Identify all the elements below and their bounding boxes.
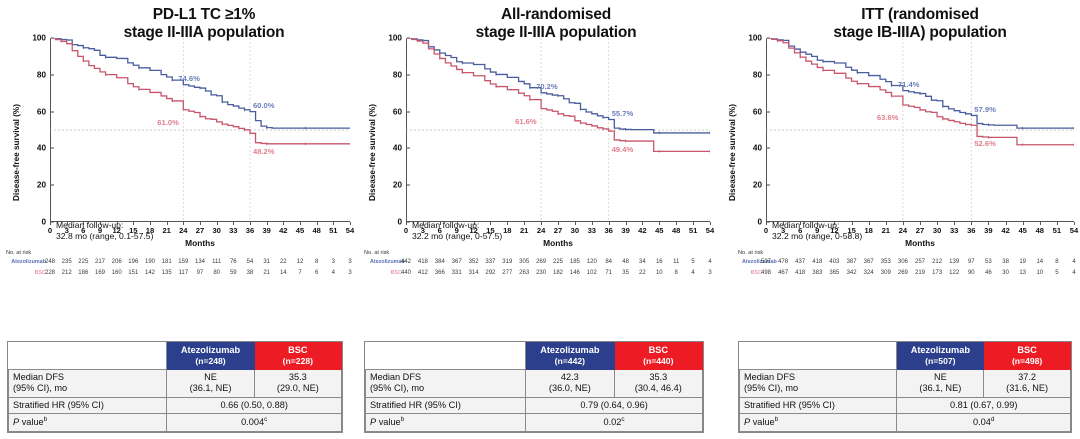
cell-value: 35.3	[619, 372, 698, 384]
risk-value: 38	[1002, 259, 1009, 265]
x-tick-9: 9	[455, 226, 459, 235]
x-axis-ticks: 0369121518212427303336394245485154	[766, 226, 1074, 238]
table-header-row: Atezolizumab(n=442)BSC(n=440)	[366, 342, 703, 369]
header-bsc-label: BSC	[288, 345, 307, 355]
row-label-line2: (95% CI), mo	[370, 383, 521, 395]
cell-median-dfs-bsc: 37.2(31.6, NE)	[984, 369, 1071, 397]
y-tick-40: 40	[393, 144, 402, 153]
risk-value: 352	[469, 259, 479, 265]
risk-value: 437	[795, 259, 805, 265]
risk-value: 3	[348, 270, 351, 276]
risk-row-bsc: BSC2282121861691601511421351179780593821…	[0, 270, 356, 280]
row-label-p-value: P valueb	[366, 414, 526, 432]
y-tick-20: 20	[37, 181, 46, 190]
x-tick-30: 30	[571, 226, 579, 235]
risk-value: 269	[898, 270, 908, 276]
cell-value: NE	[901, 372, 979, 384]
x-tick-0: 0	[48, 226, 52, 235]
risk-value: 46	[985, 270, 992, 276]
x-tick-6: 6	[81, 226, 85, 235]
risk-value: 54	[247, 259, 254, 265]
risk-value: 248	[45, 259, 55, 265]
risk-value: 181	[162, 259, 172, 265]
risk-value: 117	[179, 270, 189, 276]
risk-value: 277	[502, 270, 512, 276]
x-tick-15: 15	[847, 226, 855, 235]
row-label-p-value: P valueb	[9, 414, 167, 432]
row-label-median-dfs: Median DFS(95% CI), mo	[740, 369, 897, 397]
risk-row-bsc: BSC4404123663313142922772632301821461027…	[356, 270, 716, 280]
risk-value: 442	[401, 259, 411, 265]
x-tick-6: 6	[798, 226, 802, 235]
risk-value: 4	[1072, 259, 1075, 265]
risk-value: 366	[435, 270, 445, 276]
x-axis-title: Months	[406, 238, 710, 248]
row-label-p-value: P valueb	[740, 414, 897, 432]
risk-value: 151	[128, 270, 138, 276]
x-tick-27: 27	[916, 226, 924, 235]
panel-title-line1: All-randomised	[501, 6, 611, 23]
y-tick-60: 60	[393, 107, 402, 116]
x-tick-9: 9	[98, 226, 102, 235]
p-value-sup-marker: c	[264, 416, 267, 423]
y-axis-ticks: 020406080100	[384, 30, 406, 222]
risk-value: 84	[605, 259, 612, 265]
y-tick-40: 40	[37, 144, 46, 153]
x-tick-24: 24	[179, 226, 187, 235]
risk-value: 4	[332, 270, 335, 276]
risk-value: 8	[315, 259, 318, 265]
x-tick-39: 39	[262, 226, 270, 235]
x-axis-title: Months	[50, 238, 350, 248]
kaplan-meier-panel-3: ITT (randomisedstage IB-IIIA) population…	[716, 0, 1080, 439]
risk-value: 97	[968, 259, 975, 265]
risk-value: 111	[212, 259, 221, 265]
x-tick-30: 30	[933, 226, 941, 235]
risk-value: 120	[587, 259, 597, 265]
risk-row-atezolizumab: Atezolizumab5074784374184033873673533062…	[716, 259, 1080, 269]
x-tick-12: 12	[112, 226, 120, 235]
x-tick-30: 30	[212, 226, 220, 235]
risk-value: 182	[553, 270, 563, 276]
risk-caption: No. at risk	[6, 250, 31, 256]
cell-value: 35.3	[259, 372, 337, 384]
risk-value: 418	[418, 259, 428, 265]
risk-value: 80	[213, 270, 220, 276]
x-tick-48: 48	[312, 226, 320, 235]
row-label-stratified-hr: Stratified HR (95% CI)	[366, 397, 526, 414]
risk-value: 59	[230, 270, 237, 276]
x-tick-54: 54	[1070, 226, 1078, 235]
risk-row-atezolizumab: Atezolizumab4424183843673523373193052692…	[356, 259, 716, 269]
risk-row-label: Atezolizumab	[742, 259, 762, 265]
cell-stratified-hr-value: 0.81 (0.67, 0.99)	[897, 397, 1071, 414]
header-blank-cell	[740, 342, 897, 369]
x-tick-21: 21	[882, 226, 890, 235]
header-bsc-n: (n=228)	[259, 356, 337, 367]
x-tick-39: 39	[621, 226, 629, 235]
risk-value: 269	[536, 259, 546, 265]
risk-caption: No. at risk	[364, 250, 389, 256]
header-atezolizumab-n: (n=442)	[530, 356, 609, 367]
risk-value: 4	[1072, 270, 1075, 276]
risk-value: 173	[932, 270, 942, 276]
risk-value: 217	[95, 259, 105, 265]
row-label-stratified-hr: Stratified HR (95% CI)	[740, 397, 897, 414]
x-tick-18: 18	[864, 226, 872, 235]
risk-value: 122	[949, 270, 959, 276]
risk-value: 225	[78, 259, 88, 265]
x-tick-3: 3	[421, 226, 425, 235]
header-blank-cell	[366, 342, 526, 369]
number-at-risk-table-3: No. at riskAtezolizumab50747843741840338…	[716, 250, 1080, 298]
risk-value: 206	[112, 259, 122, 265]
y-tick-100: 100	[388, 34, 402, 43]
x-tick-51: 51	[689, 226, 697, 235]
table-row-p-value: P valueb0.004c	[9, 414, 342, 432]
results-table-2: Atezolizumab(n=442)BSC(n=440)Median DFS(…	[364, 341, 704, 433]
risk-value: 19	[1019, 259, 1026, 265]
data-label-48.2%: 48.2%	[253, 147, 275, 156]
data-label-55.7%: 55.7%	[612, 109, 634, 118]
risk-value: 3	[708, 270, 711, 276]
cell-value: 37.2	[988, 372, 1066, 384]
risk-value: 367	[452, 259, 462, 265]
risk-row-label: Atezolizumab	[6, 259, 46, 265]
x-tick-6: 6	[438, 226, 442, 235]
data-label-63.6%: 63.6%	[877, 113, 899, 122]
y-tick-100: 100	[32, 34, 46, 43]
y-tick-0: 0	[757, 218, 762, 227]
curves-svg	[766, 38, 1074, 222]
results-table-3: Atezolizumab(n=507)BSC(n=498)Median DFS(…	[738, 341, 1072, 433]
data-label-61.6%: 61.6%	[515, 117, 537, 126]
cell-ci: (30.4, 46.4)	[619, 383, 698, 395]
risk-value: 135	[162, 270, 172, 276]
risk-value: 5	[691, 259, 694, 265]
header-atezolizumab-n: (n=248)	[171, 356, 249, 367]
p-value-footnote-marker: b	[44, 416, 48, 423]
header-bsc: BSC(n=498)	[984, 342, 1071, 369]
risk-value: 257	[915, 259, 925, 265]
row-label-line2: (95% CI), mo	[13, 383, 162, 395]
y-tick-60: 60	[37, 107, 46, 116]
x-axis-ticks: 0369121518212427303336394245485154	[406, 226, 710, 238]
header-bsc: BSC(n=440)	[614, 342, 702, 369]
data-label-71.4%: 71.4%	[898, 80, 920, 89]
risk-value: 225	[553, 259, 563, 265]
x-tick-0: 0	[764, 226, 768, 235]
risk-value: 139	[949, 259, 959, 265]
row-label-line1: Median DFS	[370, 372, 521, 384]
x-tick-21: 21	[162, 226, 170, 235]
risk-value: 190	[145, 259, 155, 265]
x-tick-3: 3	[65, 226, 69, 235]
risk-value: 3	[332, 259, 335, 265]
x-tick-36: 36	[604, 226, 612, 235]
risk-value: 403	[829, 259, 839, 265]
risk-value: 14	[1036, 259, 1043, 265]
risk-value: 219	[915, 270, 925, 276]
number-at-risk-table-2: No. at riskAtezolizumab44241838436735233…	[356, 250, 716, 298]
risk-value: 230	[536, 270, 546, 276]
risk-value: 212	[932, 259, 942, 265]
header-bsc-n: (n=498)	[988, 356, 1066, 367]
risk-row-atezolizumab: Atezolizumab2482352252172061961901811591…	[0, 259, 356, 269]
risk-value: 160	[112, 270, 122, 276]
risk-value: 365	[829, 270, 839, 276]
risk-value: 384	[435, 259, 445, 265]
row-label-median-dfs: Median DFS(95% CI), mo	[9, 369, 167, 397]
cell-p-value: 0.04d	[897, 414, 1071, 432]
plot-area-1: Disease-free survival (%)02040608010074.…	[0, 30, 356, 255]
y-tick-80: 80	[37, 70, 46, 79]
risk-row-label: Atezolizumab	[370, 259, 402, 265]
x-tick-39: 39	[984, 226, 992, 235]
risk-value: 342	[847, 270, 857, 276]
risk-value: 314	[469, 270, 479, 276]
y-tick-60: 60	[753, 107, 762, 116]
data-label-52.6%: 52.6%	[974, 139, 996, 148]
header-atezolizumab: Atezolizumab(n=507)	[897, 342, 984, 369]
header-atezolizumab-label: Atezolizumab	[911, 345, 970, 355]
p-value-number: 0.04	[973, 418, 991, 428]
axes-3: 71.4%57.9%63.6%52.6%	[766, 38, 1074, 222]
risk-row-label: BSC	[6, 270, 46, 276]
x-tick-45: 45	[1018, 226, 1026, 235]
x-tick-27: 27	[196, 226, 204, 235]
header-bsc: BSC(n=228)	[254, 342, 341, 369]
cell-median-dfs-bsc: 35.3(29.0, NE)	[254, 369, 341, 397]
risk-value: 3	[348, 259, 351, 265]
curves-svg	[50, 38, 350, 222]
x-tick-24: 24	[537, 226, 545, 235]
cell-ci: (36.1, NE)	[901, 383, 979, 395]
risk-value: 134	[195, 259, 205, 265]
risk-value: 22	[639, 270, 646, 276]
table-row-p-value: P valueb0.02c	[366, 414, 703, 432]
kaplan-meier-panel-2: All-randomisedstage II-IIIA populationDi…	[356, 0, 716, 439]
x-tick-12: 12	[830, 226, 838, 235]
risk-value: 263	[519, 270, 529, 276]
x-tick-33: 33	[588, 226, 596, 235]
risk-value: 331	[452, 270, 462, 276]
header-blank-cell	[9, 342, 167, 369]
risk-value: 440	[401, 270, 411, 276]
data-label-74.6%: 74.6%	[178, 74, 200, 83]
table-row-stratified-hr: Stratified HR (95% CI)0.81 (0.67, 0.99)	[740, 397, 1071, 414]
y-tick-80: 80	[753, 70, 762, 79]
panel-title-line1: ITT (randomised	[861, 6, 979, 23]
data-label-57.9%: 57.9%	[974, 105, 996, 114]
risk-value: 71	[605, 270, 612, 276]
risk-value: 478	[778, 259, 788, 265]
risk-value: 186	[78, 270, 88, 276]
risk-value: 97	[197, 270, 204, 276]
x-tick-21: 21	[520, 226, 528, 235]
header-atezolizumab: Atezolizumab(n=442)	[526, 342, 614, 369]
risk-value: 418	[812, 259, 822, 265]
cell-median-dfs-atezolizumab: NE(36.1, NE)	[897, 369, 984, 397]
risk-value: 418	[795, 270, 805, 276]
risk-value: 102	[587, 270, 597, 276]
risk-value: 319	[502, 259, 512, 265]
row-label-line2: (95% CI), mo	[744, 383, 892, 395]
x-tick-36: 36	[246, 226, 254, 235]
risk-value: 196	[128, 259, 138, 265]
p-value-number: 0.004	[241, 418, 264, 428]
risk-value: 367	[864, 259, 874, 265]
cell-stratified-hr-value: 0.66 (0.50, 0.88)	[167, 397, 342, 414]
row-label-stratified-hr: Stratified HR (95% CI)	[9, 397, 167, 414]
table-header-row: Atezolizumab(n=248)BSC(n=228)	[9, 342, 342, 369]
cell-median-dfs-bsc: 35.3(30.4, 46.4)	[614, 369, 702, 397]
risk-value: 12	[297, 259, 304, 265]
p-value-sup-marker: d	[991, 416, 995, 423]
header-bsc-label: BSC	[1017, 345, 1036, 355]
cell-p-value: 0.004c	[167, 414, 342, 432]
risk-value: 292	[485, 270, 495, 276]
risk-value: 8	[675, 270, 678, 276]
data-label-49.4%: 49.4%	[612, 145, 634, 154]
p-value-footnote-marker: b	[401, 416, 405, 423]
cell-ci: (29.0, NE)	[259, 383, 337, 395]
risk-caption: No. at risk	[738, 250, 763, 256]
risk-value: 34	[639, 259, 646, 265]
results-table-1: Atezolizumab(n=248)BSC(n=228)Median DFS(…	[7, 341, 343, 433]
row-label-line1: Median DFS	[744, 372, 892, 384]
risk-value: 309	[881, 270, 891, 276]
risk-value: 8	[1055, 259, 1058, 265]
cell-stratified-hr-value: 0.79 (0.64, 0.96)	[526, 397, 703, 414]
y-axis-ticks: 020406080100	[28, 30, 50, 222]
risk-value: 142	[145, 270, 155, 276]
kaplan-meier-panel-1: PD-L1 TC ≥1%stage II-IIIA populationDise…	[0, 0, 356, 439]
y-tick-100: 100	[748, 34, 762, 43]
risk-value: 22	[280, 259, 287, 265]
cell-ci: (36.0, NE)	[530, 383, 609, 395]
cell-median-dfs-atezolizumab: 42.3(36.0, NE)	[526, 369, 614, 397]
p-value-word: value	[750, 418, 775, 428]
x-tick-33: 33	[229, 226, 237, 235]
risk-value: 53	[985, 259, 992, 265]
x-tick-51: 51	[1053, 226, 1061, 235]
number-at-risk-table-1: No. at riskAtezolizumab24823522521720619…	[0, 250, 356, 298]
header-atezolizumab-label: Atezolizumab	[181, 345, 240, 355]
risk-value: 185	[570, 259, 580, 265]
risk-value: 169	[95, 270, 105, 276]
cell-value: 42.3	[530, 372, 609, 384]
x-axis-title: Months	[766, 238, 1074, 248]
header-bsc-label: BSC	[649, 345, 668, 355]
risk-value: 16	[656, 259, 663, 265]
risk-value: 35	[622, 270, 629, 276]
risk-value: 507	[761, 259, 771, 265]
table-row-median-dfs: Median DFS(95% CI), mo42.3(36.0, NE)35.3…	[366, 369, 703, 397]
risk-value: 146	[570, 270, 580, 276]
risk-value: 30	[1002, 270, 1009, 276]
table-row-p-value: P valueb0.04d	[740, 414, 1071, 432]
x-tick-42: 42	[279, 226, 287, 235]
p-value-sup-marker: c	[621, 416, 624, 423]
risk-value: 324	[864, 270, 874, 276]
x-tick-54: 54	[706, 226, 714, 235]
plot-area-3: Disease-free survival (%)02040608010071.…	[716, 30, 1080, 255]
plot-area-2: Disease-free survival (%)02040608010070.…	[356, 30, 716, 255]
x-tick-48: 48	[672, 226, 680, 235]
x-tick-24: 24	[899, 226, 907, 235]
survival-curve-atezolizumab	[766, 38, 1074, 128]
cell-ci: (36.1, NE)	[171, 383, 249, 395]
y-axis-ticks: 020406080100	[744, 30, 766, 222]
risk-value: 14	[280, 270, 287, 276]
table-row-median-dfs: Median DFS(95% CI), moNE(36.1, NE)35.3(2…	[9, 369, 342, 397]
risk-value: 4	[708, 259, 711, 265]
risk-value: 159	[178, 259, 188, 265]
risk-value: 90	[968, 270, 975, 276]
risk-value: 7	[298, 270, 301, 276]
x-tick-3: 3	[781, 226, 785, 235]
data-label-61.0%: 61.0%	[157, 118, 179, 127]
risk-value: 76	[230, 259, 237, 265]
y-axis-label: Disease-free survival (%)	[12, 68, 26, 238]
header-atezolizumab-label: Atezolizumab	[540, 345, 599, 355]
axes-2: 70.2%55.7%61.6%49.4%	[406, 38, 710, 222]
table-row-median-dfs: Median DFS(95% CI), moNE(36.1, NE)37.2(3…	[740, 369, 1071, 397]
y-tick-0: 0	[397, 218, 402, 227]
risk-row-bsc: BSC4984674183833653423243092692191731229…	[716, 270, 1080, 280]
risk-value: 337	[485, 259, 495, 265]
risk-value: 305	[519, 259, 529, 265]
risk-value: 13	[1019, 270, 1026, 276]
table-row-stratified-hr: Stratified HR (95% CI)0.66 (0.50, 0.88)	[9, 397, 342, 414]
y-axis-label: Disease-free survival (%)	[368, 68, 382, 238]
x-tick-45: 45	[296, 226, 304, 235]
cell-ci: (31.6, NE)	[988, 383, 1066, 395]
survival-curve-atezolizumab	[406, 38, 710, 133]
risk-value: 38	[247, 270, 254, 276]
x-tick-15: 15	[129, 226, 137, 235]
x-tick-18: 18	[503, 226, 511, 235]
x-tick-9: 9	[815, 226, 819, 235]
header-atezolizumab-n: (n=507)	[901, 356, 979, 367]
risk-value: 31	[263, 259, 270, 265]
risk-row-label: BSC	[742, 270, 762, 276]
table-header-row: Atezolizumab(n=507)BSC(n=498)	[740, 342, 1071, 369]
curves-svg	[406, 38, 710, 222]
risk-value: 48	[622, 259, 629, 265]
risk-value: 306	[898, 259, 908, 265]
table-row-stratified-hr: Stratified HR (95% CI)0.79 (0.64, 0.96)	[366, 397, 703, 414]
x-axis-ticks: 0369121518212427303336394245485154	[50, 226, 350, 238]
risk-value: 11	[673, 259, 679, 265]
row-label-median-dfs: Median DFS(95% CI), mo	[366, 369, 526, 397]
risk-value: 10	[1036, 270, 1043, 276]
risk-value: 412	[418, 270, 428, 276]
x-tick-27: 27	[554, 226, 562, 235]
x-tick-15: 15	[486, 226, 494, 235]
panel-title-line1: PD-L1 TC ≥1%	[153, 6, 256, 23]
risk-value: 10	[656, 270, 663, 276]
risk-value: 5	[1055, 270, 1058, 276]
p-value-word: value	[376, 418, 401, 428]
x-tick-18: 18	[146, 226, 154, 235]
header-bsc-n: (n=440)	[619, 356, 698, 367]
risk-value: 498	[761, 270, 771, 276]
x-tick-33: 33	[950, 226, 958, 235]
y-tick-20: 20	[393, 181, 402, 190]
x-tick-0: 0	[404, 226, 408, 235]
